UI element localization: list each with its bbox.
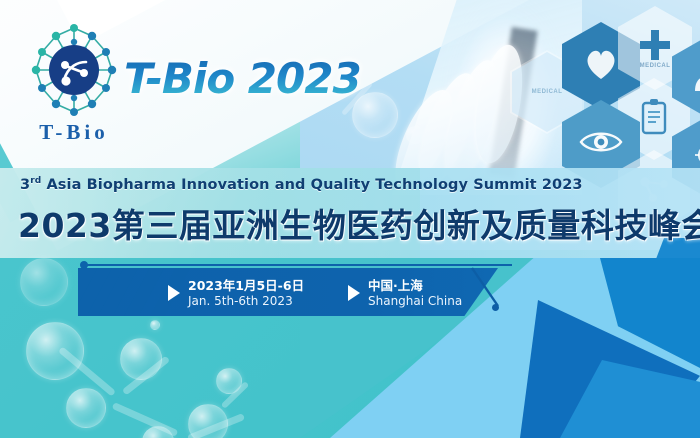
infobar-top-line: [84, 264, 512, 266]
clipboard-icon: [640, 99, 668, 140]
hex-label-text: MEDICAL: [532, 89, 563, 95]
info-location: 中国·上海 Shanghai China: [348, 278, 462, 309]
heart-icon: [583, 47, 619, 86]
logo-wordmark: T-Bio: [18, 120, 130, 145]
headline-english: 3rd Asia Biopharma Innovation and Qualit…: [20, 176, 680, 193]
info-date: 2023年1月5日-6日 Jan. 5th-6th 2023: [168, 278, 304, 309]
logo-block: T-Bio: [18, 22, 128, 144]
infobar-tail: [470, 266, 530, 316]
infobar-end-dot: [492, 304, 499, 311]
headline-english-text: Asia Biopharma Innovation and Quality Te…: [41, 177, 582, 193]
info-location-text: 中国·上海 Shanghai China: [368, 278, 462, 309]
info-date-chinese: 2023年1月5日-6日: [188, 278, 304, 294]
cross-icon: MEDICAL: [638, 28, 672, 69]
headline-ordinal-suffix: rd: [30, 176, 41, 186]
play-triangle-icon: [348, 285, 360, 301]
info-location-chinese: 中国·上海: [368, 278, 462, 294]
info-date-text: 2023年1月5日-6日 Jan. 5th-6th 2023: [188, 278, 304, 309]
headline-ordinal: 3: [20, 177, 30, 193]
person-icon: [693, 58, 700, 97]
headline-chinese: 2023第三届亚洲生物医药创新及质量科技峰会: [18, 199, 688, 247]
play-triangle-icon: [168, 285, 180, 301]
molecule-network-logo-icon: [26, 22, 122, 118]
conference-banner: MEDICAL MEDICAL: [0, 0, 700, 438]
info-date-english: Jan. 5th-6th 2023: [188, 294, 304, 309]
info-location-english: Shanghai China: [368, 294, 462, 309]
hex-label-text: MEDICAL: [640, 63, 671, 69]
tbio-title-mark: T-Bio 2023: [124, 54, 361, 103]
eye-icon: [579, 129, 623, 160]
